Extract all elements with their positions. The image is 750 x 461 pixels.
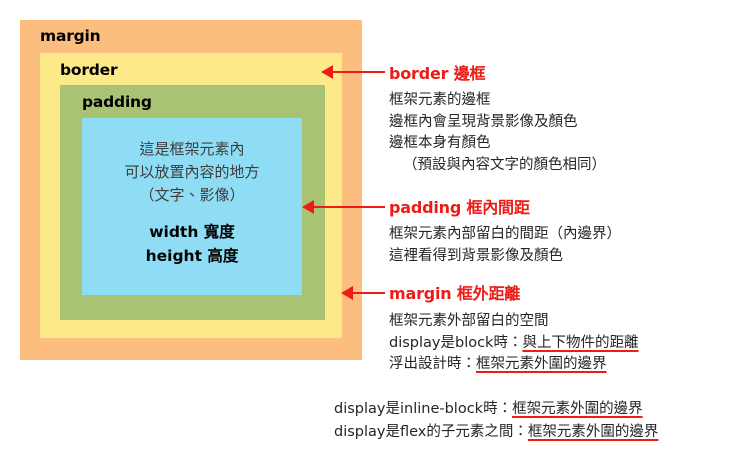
content-text-line: 這是框架元素內 [139,138,244,161]
margin-area-label: margin [40,27,101,45]
margin-line-prefix: display是block時： [389,335,522,351]
bottom-line-emphasis: 框架元素外圍的邊界 [528,424,659,440]
padding-area-label: padding [82,93,152,111]
width-label: width 寬度 [149,220,235,244]
margin-line-prefix: 浮出設計時： [389,356,476,372]
padding-annotation: padding 框內間距 框架元素內部留白的間距（內邊界） 這裡看得到背景影像及… [389,194,621,267]
border-annotation-note: （預設與內容文字的顏色相同） [389,155,606,177]
margin-annotation: margin 框外距離 框架元素外部留白的空間 display是block時：與… [389,280,638,376]
bottom-annotations: display是inline-block時：框架元素外圍的邊界 display是… [334,398,658,444]
bottom-annotation-line: display是inline-block時：框架元素外圍的邊界 [334,398,658,421]
content-text-line: 可以放置內容的地方 [124,161,259,184]
border-annotation-line: 邊框內會呈現背景影像及顏色 [389,112,606,134]
arrow-shaft [331,71,385,73]
arrow-shaft [351,292,385,294]
content-area-text: 這是框架元素內 可以放置內容的地方 （文字、影像） width 寬度 heigh… [82,118,302,295]
border-annotation-title: border 邊框 [389,60,606,84]
margin-annotation-line: 框架元素外部留白的空間 [389,311,638,333]
content-text-line: （文字、影像） [139,184,244,207]
border-annotation: border 邊框 框架元素的邊框 邊框內會呈現背景影像及顏色 邊框本身有顏色 … [389,60,606,176]
bottom-line-prefix: display是inline-block時： [334,401,512,417]
margin-line-emphasis: 與上下物件的距離 [522,335,638,351]
box-model-diagram: margin border padding 這是框架元素內 可以放置內容的地方 … [0,0,750,461]
padding-annotation-line: 框架元素內部留白的間距（內邊界） [389,224,621,246]
margin-annotation-line: 浮出設計時：框架元素外圍的邊界 [389,354,638,376]
bottom-annotation-line: display是flex的子元素之間：框架元素外圍的邊界 [334,421,658,444]
padding-annotation-title: padding 框內間距 [389,194,621,218]
margin-annotation-title: margin 框外距離 [389,280,638,304]
arrow-left-icon [302,200,385,214]
padding-annotation-line: 這裡看得到背景影像及顏色 [389,246,621,268]
margin-annotation-line: display是block時：與上下物件的距離 [389,333,638,355]
height-label: height 高度 [146,244,239,268]
arrow-shaft [312,206,385,208]
arrow-left-icon [341,286,385,300]
arrow-left-icon [321,65,385,79]
bottom-line-prefix: display是flex的子元素之間： [334,424,528,440]
border-annotation-line: 邊框本身有顏色 [389,133,606,155]
margin-line-emphasis: 框架元素外圍的邊界 [476,356,607,372]
bottom-line-emphasis: 框架元素外圍的邊界 [512,401,643,417]
border-area-label: border [60,61,117,79]
border-annotation-line: 框架元素的邊框 [389,90,606,112]
